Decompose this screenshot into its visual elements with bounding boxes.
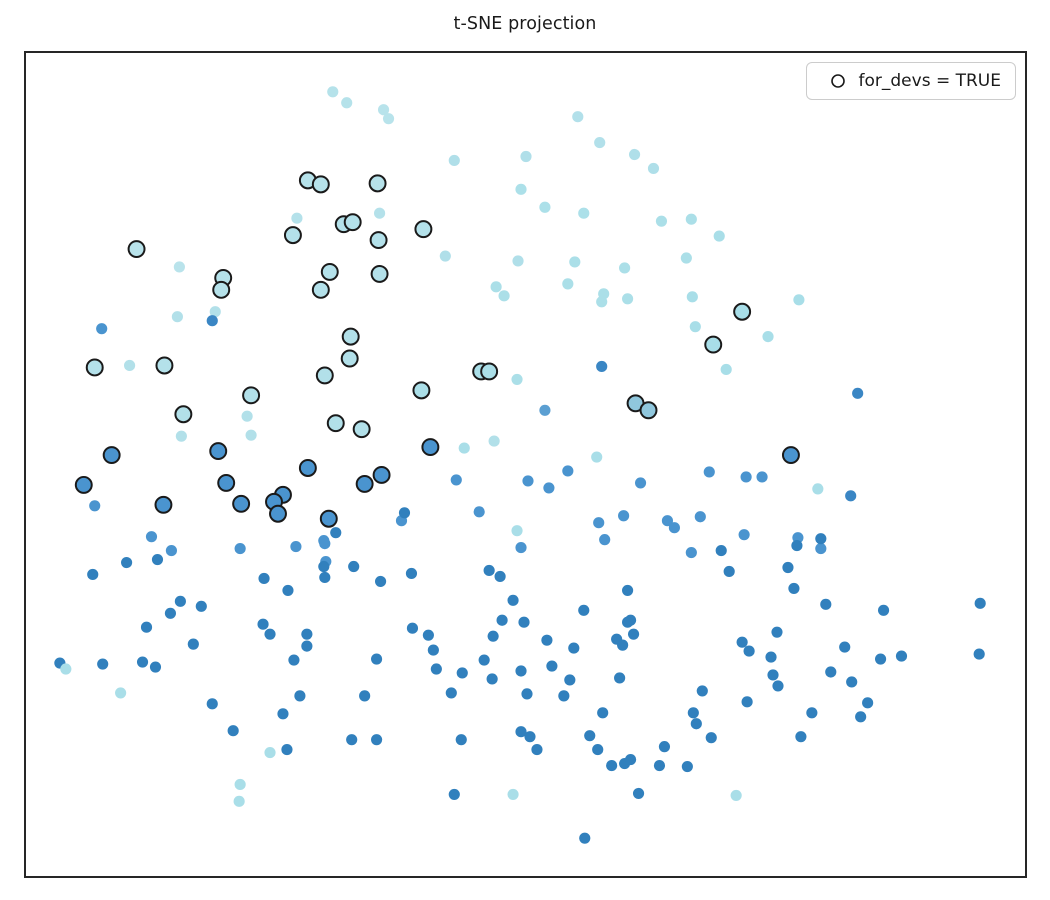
data-point (742, 696, 753, 707)
data-point (146, 531, 157, 542)
data-point-highlighted (76, 477, 92, 493)
data-point (141, 622, 152, 633)
data-point (724, 566, 735, 577)
data-point (593, 517, 604, 528)
data-point (622, 617, 633, 628)
data-point (619, 262, 630, 273)
data-point (546, 660, 557, 671)
data-point (839, 642, 850, 653)
data-point-highlighted (285, 227, 301, 243)
data-point (451, 474, 462, 485)
data-point (756, 471, 767, 482)
data-point (207, 315, 218, 326)
data-point (319, 572, 330, 583)
data-point (714, 231, 725, 242)
data-point-highlighted (354, 421, 370, 437)
data-point-highlighted (357, 476, 373, 492)
data-point (207, 698, 218, 709)
data-point (659, 741, 670, 752)
data-point-highlighted (374, 467, 390, 483)
data-point (862, 697, 873, 708)
open-circle-icon (828, 71, 848, 91)
data-point-highlighted (415, 221, 431, 237)
data-point (383, 113, 394, 124)
data-point (578, 208, 589, 219)
data-point (507, 789, 518, 800)
data-point (521, 688, 532, 699)
data-point (330, 527, 341, 538)
data-point (175, 596, 186, 607)
data-point (782, 562, 793, 573)
data-point (188, 639, 199, 650)
data-point (318, 561, 329, 572)
data-point (166, 545, 177, 556)
data-point (974, 649, 985, 660)
data-point-highlighted (705, 337, 721, 353)
data-point (539, 202, 550, 213)
data-point (507, 595, 518, 606)
data-point-highlighted (104, 447, 120, 463)
legend-marker-cell (819, 71, 857, 91)
data-point (60, 663, 71, 674)
data-point (597, 707, 608, 718)
data-point (488, 631, 499, 642)
data-point (484, 565, 495, 576)
data-point-highlighted (371, 232, 387, 248)
data-point (375, 576, 386, 587)
data-point (399, 507, 410, 518)
data-point (793, 294, 804, 305)
data-point (765, 651, 776, 662)
data-point (591, 451, 602, 462)
data-point (515, 542, 526, 553)
data-point-highlighted (321, 511, 337, 527)
data-point (731, 790, 742, 801)
data-point (440, 250, 451, 261)
data-point (115, 687, 126, 698)
data-point (264, 629, 275, 640)
data-point (121, 557, 132, 568)
data-point-highlighted (156, 358, 172, 374)
data-point (572, 111, 583, 122)
data-point (682, 761, 693, 772)
data-point (495, 571, 506, 582)
data-point (172, 311, 183, 322)
data-point (374, 208, 385, 219)
data-point (568, 643, 579, 654)
data-point (596, 361, 607, 372)
data-point (691, 718, 702, 729)
data-point (457, 667, 468, 678)
data-point (558, 690, 569, 701)
data-point (246, 430, 257, 441)
data-point (686, 547, 697, 558)
data-point (562, 465, 573, 476)
data-point (737, 637, 748, 648)
data-point-highlighted (233, 496, 249, 512)
data-point (654, 760, 665, 771)
data-point (744, 646, 755, 657)
data-point (242, 411, 253, 422)
data-point-highlighted (218, 475, 234, 491)
data-point (562, 278, 573, 289)
data-point (599, 534, 610, 545)
data-point (96, 323, 107, 334)
data-point (234, 796, 245, 807)
data-point (511, 374, 522, 385)
data-point (235, 779, 246, 790)
data-point (584, 730, 595, 741)
data-point (695, 511, 706, 522)
data-point (277, 708, 288, 719)
data-point (579, 833, 590, 844)
data-point (690, 321, 701, 332)
data-point (772, 680, 783, 691)
data-point (791, 540, 802, 551)
data-point-highlighted (734, 304, 750, 320)
data-point-highlighted (345, 214, 361, 230)
data-point (87, 569, 98, 580)
data-point (617, 640, 628, 651)
data-point-highlighted (342, 351, 358, 367)
data-point (806, 707, 817, 718)
data-point-highlighted (422, 439, 438, 455)
data-point (515, 665, 526, 676)
data-point (257, 619, 268, 630)
data-point-highlighted (313, 176, 329, 192)
data-point-highlighted (243, 387, 259, 403)
data-point (456, 734, 467, 745)
data-point (428, 645, 439, 656)
data-point (449, 155, 460, 166)
data-point (359, 690, 370, 701)
data-point (176, 431, 187, 442)
data-point (291, 213, 302, 224)
data-point (346, 734, 357, 745)
data-point (771, 627, 782, 638)
data-point (681, 252, 692, 263)
data-point (449, 789, 460, 800)
data-point (301, 629, 312, 640)
data-point (686, 214, 697, 225)
data-point (124, 360, 135, 371)
data-point (541, 635, 552, 646)
plot-area: for_devs = TRUE (24, 51, 1027, 878)
data-point (845, 490, 856, 501)
data-point (578, 605, 589, 616)
data-point (137, 656, 148, 667)
data-point (669, 522, 680, 533)
data-point (89, 500, 100, 511)
data-point (165, 608, 176, 619)
data-point (531, 744, 542, 755)
data-point (721, 364, 732, 375)
data-point (852, 388, 863, 399)
data-point (569, 256, 580, 267)
data-point (235, 543, 246, 554)
data-point (633, 788, 644, 799)
data-point-highlighted (783, 447, 799, 463)
data-point (788, 583, 799, 594)
figure-canvas: t-SNE projection for_devs = TRUE (0, 0, 1050, 900)
data-point (815, 533, 826, 544)
data-point-highlighted (370, 175, 386, 191)
data-point (739, 529, 750, 540)
data-point (716, 545, 727, 556)
data-point (474, 506, 485, 517)
data-point (491, 281, 502, 292)
data-point (815, 543, 826, 554)
data-point-highlighted (328, 415, 344, 431)
data-point (878, 605, 889, 616)
data-point (896, 650, 907, 661)
data-point (622, 585, 633, 596)
data-point (629, 149, 640, 160)
data-point (282, 585, 293, 596)
data-point (196, 601, 207, 612)
data-point (704, 466, 715, 477)
data-point-highlighted (213, 282, 229, 298)
data-point-highlighted (270, 506, 286, 522)
data-point-highlighted (87, 360, 103, 376)
legend-label: for_devs = TRUE (857, 71, 1001, 91)
data-point (697, 685, 708, 696)
data-point (327, 86, 338, 97)
data-point (511, 525, 522, 536)
data-point (407, 623, 418, 634)
data-point-highlighted (413, 382, 429, 398)
data-point (301, 641, 312, 652)
data-point (812, 483, 823, 494)
data-point-highlighted (129, 241, 145, 257)
data-point-highlighted (322, 264, 338, 280)
data-point (855, 711, 866, 722)
data-point (228, 725, 239, 736)
data-point (258, 573, 269, 584)
data-point (688, 707, 699, 718)
data-point-highlighted (313, 282, 329, 298)
data-point-highlighted (481, 363, 497, 379)
data-point (264, 747, 275, 758)
data-point (152, 554, 163, 565)
data-point (288, 654, 299, 665)
data-point (767, 669, 778, 680)
data-point (150, 661, 161, 672)
data-point (539, 405, 550, 416)
data-point (656, 216, 667, 227)
data-point (543, 482, 554, 493)
data-point (499, 290, 510, 301)
data-point (975, 598, 986, 609)
data-point (564, 674, 575, 685)
data-point (487, 673, 498, 684)
data-point (606, 760, 617, 771)
data-point (596, 296, 607, 307)
data-point (795, 731, 806, 742)
data-point (512, 255, 523, 266)
data-point (348, 561, 359, 572)
data-point-highlighted (372, 266, 388, 282)
data-point (341, 97, 352, 108)
data-point (406, 568, 417, 579)
data-point (423, 630, 434, 641)
data-point (622, 293, 633, 304)
data-point (371, 734, 382, 745)
data-point (371, 653, 382, 664)
data-point (520, 151, 531, 162)
data-point (592, 744, 603, 755)
scatter-plot (26, 53, 1025, 876)
data-point-highlighted (155, 497, 171, 513)
data-point (446, 687, 457, 698)
data-point (594, 137, 605, 148)
data-point (294, 690, 305, 701)
data-point-highlighted (210, 443, 226, 459)
data-point (618, 510, 629, 521)
data-point (459, 443, 470, 454)
data-point (825, 666, 836, 677)
data-point-highlighted (641, 402, 657, 418)
data-point (281, 744, 292, 755)
data-point-highlighted (317, 367, 333, 383)
data-point (706, 732, 717, 743)
data-point (97, 658, 108, 669)
data-point (290, 541, 301, 552)
data-point (846, 676, 857, 687)
data-point-highlighted (343, 329, 359, 345)
data-point (497, 615, 508, 626)
data-point (431, 663, 442, 674)
data-point (628, 629, 639, 640)
data-point-highlighted (300, 460, 316, 476)
data-point (522, 475, 533, 486)
data-point-highlighted (175, 406, 191, 422)
data-point (319, 538, 330, 549)
data-point (635, 477, 646, 488)
data-point (687, 291, 698, 302)
data-point (489, 436, 500, 447)
data-point (524, 731, 535, 742)
data-point (875, 653, 886, 664)
data-point (820, 599, 831, 610)
page-title: t-SNE projection (0, 14, 1050, 34)
data-point (648, 163, 659, 174)
data-point (762, 331, 773, 342)
data-point (741, 471, 752, 482)
data-point (174, 261, 185, 272)
data-point (518, 617, 529, 628)
data-points-layer (54, 86, 985, 844)
legend: for_devs = TRUE (806, 62, 1016, 100)
data-point (625, 754, 636, 765)
data-point (479, 654, 490, 665)
data-point (614, 672, 625, 683)
data-point (515, 184, 526, 195)
